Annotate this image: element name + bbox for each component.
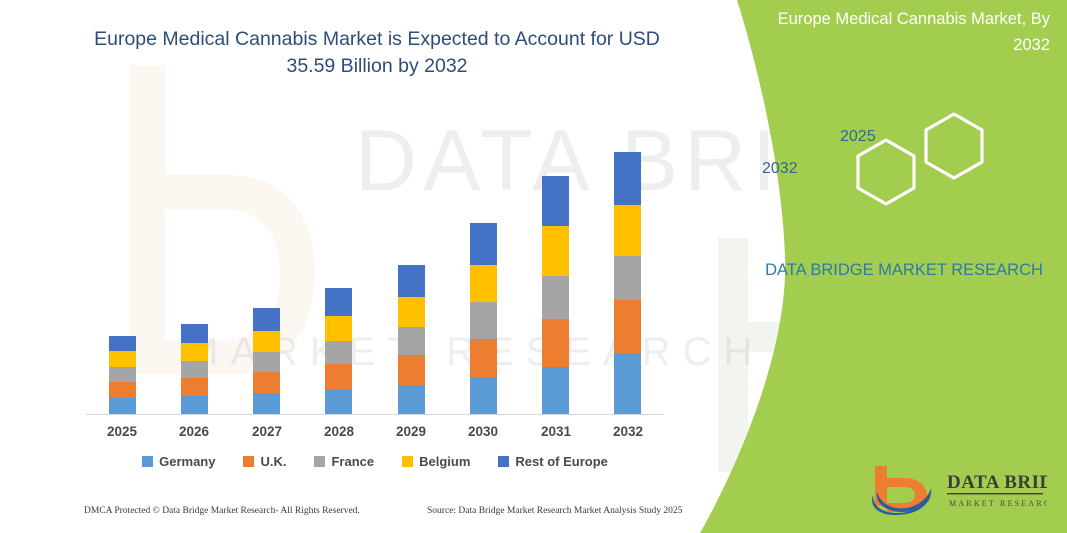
chart-baseline (86, 414, 664, 415)
bar-segment-u-k--2028 (325, 364, 352, 389)
chart-legend: GermanyU.K.FranceBelgiumRest of Europe (86, 454, 664, 469)
bar-segment-belgium-2031 (542, 226, 569, 276)
infographic-root: DATA BRIDGE MARKET RESEARCH Europe Medic… (0, 0, 1067, 533)
legend-item-germany[interactable]: Germany (142, 454, 215, 469)
bar-segment-rest-of-europe-2032 (614, 152, 641, 205)
bar-segment-rest-of-europe-2030 (470, 223, 497, 265)
legend-swatch-icon (314, 456, 325, 467)
legend-label: Belgium (419, 454, 470, 469)
chart-title: Europe Medical Cannabis Market is Expect… (88, 26, 666, 80)
bar-segment-rest-of-europe-2031 (542, 176, 569, 226)
hexagon-2032-outline (858, 140, 914, 204)
bar-segment-u-k--2032 (614, 300, 641, 353)
legend-item-belgium[interactable]: Belgium (402, 454, 470, 469)
dbmr-logo-icon: DATA BRIDGE MARKET RESEARCH (867, 462, 1047, 516)
chart-bar-2027 (253, 308, 280, 414)
bar-segment-germany-2030 (470, 377, 497, 414)
bar-segment-rest-of-europe-2025 (109, 336, 136, 351)
logo-secondary-text: MARKET RESEARCH (949, 499, 1047, 508)
bar-segment-rest-of-europe-2029 (398, 265, 425, 297)
x-axis-label-2031: 2031 (526, 424, 586, 439)
bar-segment-france-2026 (181, 361, 208, 378)
hexagon-2025-outline (926, 114, 982, 178)
chart-bar-2031 (542, 176, 569, 414)
chart-bar-2030 (470, 223, 497, 414)
bar-segment-belgium-2029 (398, 297, 425, 327)
bar-segment-germany-2031 (542, 367, 569, 414)
bar-segment-rest-of-europe-2028 (325, 288, 352, 316)
bar-segment-germany-2029 (398, 385, 425, 414)
bar-segment-belgium-2027 (253, 331, 280, 352)
bar-segment-france-2032 (614, 256, 641, 300)
bar-segment-belgium-2025 (109, 351, 136, 367)
bar-segment-u-k--2027 (253, 372, 280, 393)
bar-segment-france-2025 (109, 367, 136, 382)
hexagon-shapes-icon (830, 96, 1010, 211)
hexagon-label-2032: 2032 (762, 160, 798, 178)
x-axis-label-2025: 2025 (92, 424, 152, 439)
legend-swatch-icon (498, 456, 509, 467)
chart-bar-2032 (614, 152, 641, 414)
bar-segment-belgium-2032 (614, 205, 641, 256)
footer-source: Source: Data Bridge Market Research Mark… (427, 506, 682, 516)
legend-swatch-icon (243, 456, 254, 467)
bar-segment-germany-2025 (109, 398, 136, 414)
x-axis-label-2027: 2027 (237, 424, 297, 439)
legend-label: France (331, 454, 374, 469)
legend-label: Germany (159, 454, 215, 469)
bar-segment-belgium-2026 (181, 343, 208, 361)
x-axis-label-2028: 2028 (309, 424, 369, 439)
bar-segment-rest-of-europe-2027 (253, 308, 280, 331)
hexagon-group (830, 96, 1010, 211)
bar-segment-u-k--2026 (181, 378, 208, 396)
bar-segment-france-2028 (325, 341, 352, 364)
logo-primary-text: DATA BRIDGE (947, 472, 1047, 493)
bar-segment-u-k--2029 (398, 355, 425, 385)
x-axis-label-2026: 2026 (164, 424, 224, 439)
legend-label: U.K. (260, 454, 286, 469)
chart-bar-2028 (325, 288, 352, 414)
chart-bar-2029 (398, 265, 425, 414)
chart-bar-2026 (181, 324, 208, 414)
legend-item-u-k-[interactable]: U.K. (243, 454, 286, 469)
bar-segment-u-k--2025 (109, 382, 136, 398)
hexagon-label-2025: 2025 (840, 128, 876, 146)
bar-segment-germany-2026 (181, 396, 208, 414)
chart-panel: Europe Medical Cannabis Market is Expect… (0, 0, 760, 533)
chart-bar-2025 (109, 336, 136, 414)
bar-segment-u-k--2031 (542, 319, 569, 367)
legend-swatch-icon (402, 456, 413, 467)
x-axis-label-2032: 2032 (598, 424, 658, 439)
bar-segment-belgium-2028 (325, 316, 352, 341)
legend-swatch-icon (142, 456, 153, 467)
chart-plot-area (86, 140, 664, 415)
legend-item-france[interactable]: France (314, 454, 374, 469)
bar-segment-france-2027 (253, 352, 280, 372)
bar-segment-france-2029 (398, 327, 425, 355)
legend-item-rest-of-europe[interactable]: Rest of Europe (498, 454, 607, 469)
brand-name-text: DATA BRIDGE MARKET RESEARCH (758, 258, 1050, 283)
bar-segment-germany-2028 (325, 389, 352, 414)
bar-segment-u-k--2030 (470, 339, 497, 377)
brand-panel-title: Europe Medical Cannabis Market, By 2032 (750, 6, 1050, 58)
bar-segment-france-2030 (470, 302, 497, 339)
x-axis-label-2030: 2030 (453, 424, 513, 439)
bar-segment-rest-of-europe-2026 (181, 324, 208, 343)
bar-segment-germany-2027 (253, 393, 280, 414)
bar-segment-germany-2032 (614, 353, 641, 414)
bar-segment-belgium-2030 (470, 265, 497, 302)
x-axis-label-2029: 2029 (381, 424, 441, 439)
legend-label: Rest of Europe (515, 454, 607, 469)
footer-copyright: DMCA Protected © Data Bridge Market Rese… (84, 506, 360, 516)
brand-panel-content: Europe Medical Cannabis Market, By 2032 … (740, 0, 1067, 533)
chart-x-axis: 20252026202720282029203020312032 (86, 424, 664, 446)
bar-segment-france-2031 (542, 276, 569, 319)
